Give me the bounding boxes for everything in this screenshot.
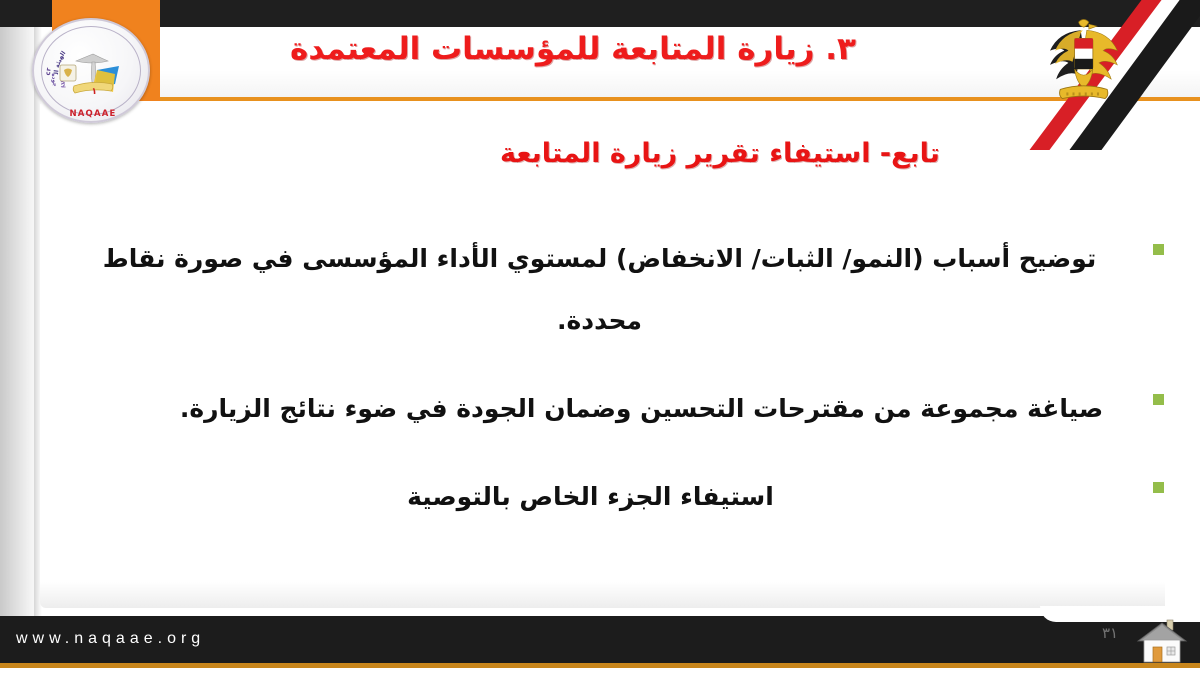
bullet-marker-icon (1153, 244, 1164, 255)
logo-artwork: National Authority for Quality Assurance… (34, 20, 150, 123)
bullet-text: توضيح أسباب (النمو/ الثبات/ الانخفاض) لم… (34, 228, 1139, 352)
content-card-bottom-edge (40, 582, 1165, 608)
svg-text:١: ١ (92, 87, 98, 97)
bullet-marker-icon (1153, 394, 1164, 405)
list-item: استيفاء الجزء الخاص بالتوصية (34, 466, 1164, 528)
list-item: صياغة مجموعة من مقترحات التحسين وضمان ال… (34, 378, 1164, 440)
footer-white-strip (0, 668, 1200, 675)
page-number: ٣١ (1102, 624, 1118, 642)
bullet-marker-icon (1153, 482, 1164, 493)
page-title: ٣. زيارة المتابعة للمؤسسات المعتمدة (178, 24, 968, 74)
naqaae-logo: National Authority for Quality Assurance… (32, 18, 150, 123)
home-icon[interactable] (1134, 614, 1190, 666)
website-url[interactable]: www.naqaae.org (16, 630, 205, 648)
bullet-list: توضيح أسباب (النمو/ الثبات/ الانخفاض) لم… (34, 228, 1164, 554)
header-orange-rule (92, 97, 1200, 101)
list-item: توضيح أسباب (النمو/ الثبات/ الانخفاض) لم… (34, 228, 1164, 352)
svg-text:NAQAAE: NAQAAE (69, 109, 116, 119)
bullet-text: استيفاء الجزء الخاص بالتوصية (34, 466, 1139, 528)
presentation-slide: ٣. زيارة المتابعة للمؤسسات المعتمدة Nati… (0, 0, 1200, 675)
bullet-text: صياغة مجموعة من مقترحات التحسين وضمان ال… (34, 378, 1139, 440)
svg-text:جودة التعليم والاعتماد: جودة التعليم والاعتماد (34, 20, 58, 87)
slide-footer: www.naqaae.org ٣١ (0, 608, 1200, 675)
svg-text:National Authority for Quality: National Authority for Quality Assurance… (34, 20, 53, 76)
slide-subtitle: تابع- استيفاء تقرير زيارة المتابعة (400, 132, 1040, 176)
slide-header: ٣. زيارة المتابعة للمؤسسات المعتمدة (0, 0, 1200, 104)
header-black-bar (92, 0, 1200, 27)
